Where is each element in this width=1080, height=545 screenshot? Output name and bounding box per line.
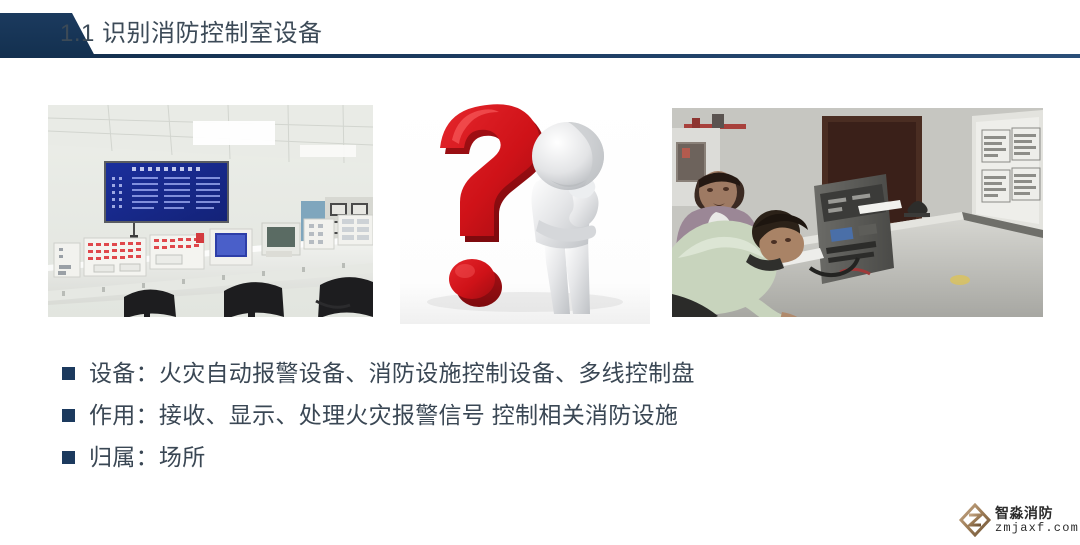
bullet-square-icon (62, 367, 75, 380)
equipment-inspection-photo (672, 108, 1043, 317)
bullet-text: 归属：场所 (89, 441, 206, 473)
header-divider-rule (92, 54, 1080, 58)
list-item: 设备：火灾自动报警设备、消防设施控制设备、多线控制盘 (0, 352, 1080, 394)
list-item: 归属：场所 (0, 436, 1080, 478)
watermark-url: zmjaxf.com (995, 522, 1079, 534)
watermark-text-block: 智淼消防 zmjaxf.com (995, 506, 1079, 534)
question-mark-photo (400, 96, 650, 324)
bullet-list: 设备：火灾自动报警设备、消防设施控制设备、多线控制盘 作用：接收、显示、处理火灾… (0, 352, 1080, 478)
fire-control-room-photo (48, 105, 373, 317)
slide-header: 1.1 识别消防控制室设备 (0, 0, 1080, 62)
slide-canvas: 1.1 识别消防控制室设备 (0, 0, 1080, 545)
bullet-text: 作用：接收、显示、处理火灾报警信号 控制相关消防设施 (89, 399, 678, 431)
bullet-square-icon (62, 451, 75, 464)
bullet-text: 设备：火灾自动报警设备、消防设施控制设备、多线控制盘 (89, 357, 695, 389)
list-item: 作用：接收、显示、处理火灾报警信号 控制相关消防设施 (0, 394, 1080, 436)
diamond-z-logo-icon (958, 503, 992, 537)
bullet-square-icon (62, 409, 75, 422)
watermark-brand-name: 智淼消防 (995, 506, 1079, 520)
watermark-logo: 智淼消防 zmjaxf.com (958, 500, 1076, 540)
page-title: 1.1 识别消防控制室设备 (60, 17, 323, 51)
